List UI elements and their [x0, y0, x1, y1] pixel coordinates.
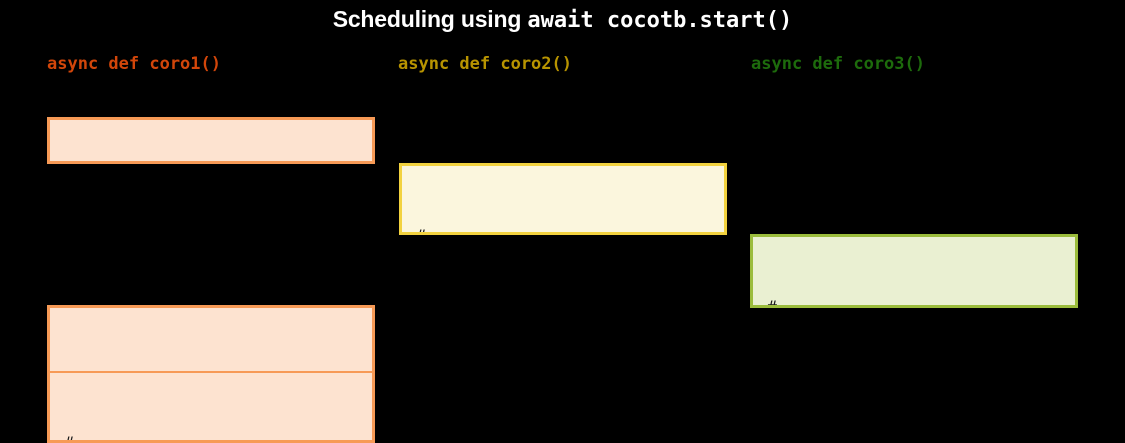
code-line: # ... [64, 366, 358, 373]
code-line: # ... [767, 295, 1061, 308]
page-title-prefix: Scheduling using [333, 6, 528, 32]
code-block-coro1-start: await cocotb.start(coro2()) [47, 117, 375, 164]
code-block-coro2-timer: # ... await Timer(1, units="ns") [399, 163, 727, 235]
page-title: Scheduling using await cocotb.start() [0, 6, 1125, 33]
code-block-coro1-timer-second: # ... await Timer(1, units="ns") [47, 373, 375, 443]
column-header-coro3: async def coro3() [751, 54, 925, 74]
page-title-code: await cocotb.start() [527, 8, 792, 33]
code-block-coro1-timer-first: # ... await Timer(1, units="ns") [47, 305, 375, 373]
column-header-coro1: async def coro1() [47, 54, 221, 74]
code-line: # ... [64, 431, 358, 443]
code-line: # ... [416, 224, 710, 235]
code-block-coro3-timer: # ... await Timer(1, units="ns") [750, 234, 1078, 308]
diagram-canvas: Scheduling using await cocotb.start() as… [0, 0, 1125, 442]
column-header-coro2: async def coro2() [398, 54, 572, 74]
